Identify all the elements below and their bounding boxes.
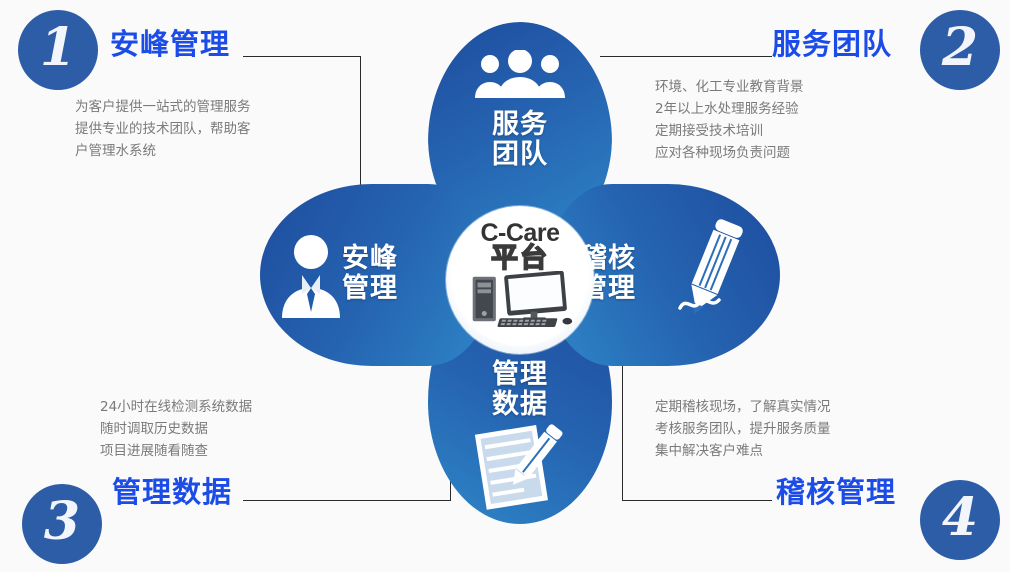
- petal-label-audit-management: 稽核 管理: [580, 244, 698, 304]
- section-body-3-line-1: 24小时在线检测系统数据: [100, 396, 252, 418]
- section-title-4: 稽核管理: [776, 469, 896, 511]
- petal-label-service-team: 服务 团队: [428, 110, 612, 170]
- section-body-1-line-1: 为客户提供一站式的管理服务: [75, 96, 251, 118]
- petal-label-audit-management-line1: 稽核: [580, 244, 698, 274]
- petal-label-anfeng-management-line1: 安峰: [342, 244, 460, 274]
- section-title-3: 管理数据: [112, 469, 232, 511]
- petal-label-anfeng-management: 安峰 管理: [342, 244, 460, 304]
- document-pencil-icon: [472, 418, 568, 510]
- petal-label-management-data: 管理 数据: [428, 360, 612, 420]
- number-badge-1-label: 1: [40, 22, 76, 74]
- section-body-1-line-2: 提供专业的技术团队，帮助客: [75, 118, 251, 140]
- petal-label-audit-management-line2: 管理: [580, 274, 698, 304]
- businessman-icon: [272, 233, 350, 318]
- number-badge-4-label: 4: [942, 492, 978, 544]
- section-body-3-line-2: 随时调取历史数据: [100, 418, 252, 440]
- desktop-computer-icon: [466, 271, 574, 331]
- section-body-1: 为客户提供一站式的管理服务 提供专业的技术团队，帮助客 户管理水系统: [75, 96, 251, 162]
- number-badge-3-label: 3: [44, 496, 80, 548]
- petal-label-management-data-line2: 数据: [428, 390, 612, 420]
- number-badge-2: 2: [920, 10, 1000, 90]
- flower-diagram: 服务 团队 管理 数据 安峰 管理 稽核 管理 C-Care 平台: [250, 8, 790, 533]
- number-badge-4: 4: [920, 480, 1000, 560]
- petal-label-management-data-line1: 管理: [428, 360, 612, 390]
- center-hub[interactable]: C-Care 平台: [454, 214, 586, 346]
- petal-label-anfeng-management-line2: 管理: [342, 274, 460, 304]
- hub-subtitle: 平台: [491, 245, 549, 273]
- section-title-1: 安峰管理: [110, 21, 230, 63]
- number-badge-2-label: 2: [942, 22, 978, 74]
- three-people-icon: [470, 50, 570, 98]
- section-body-1-line-3: 户管理水系统: [75, 140, 251, 162]
- number-badge-1: 1: [18, 10, 98, 90]
- petal-label-service-team-line1: 服务: [428, 110, 612, 140]
- number-badge-3: 3: [22, 484, 102, 564]
- section-body-3-line-3: 项目进展随看随查: [100, 440, 252, 462]
- infographic-canvas: 1 2 3 4 安峰管理 服务团队 管理数据 稽核管理 为客户提供一站式的管理服…: [0, 0, 1010, 572]
- section-title-2: 服务团队: [772, 21, 892, 63]
- petal-label-service-team-line2: 团队: [428, 140, 612, 170]
- section-body-3: 24小时在线检测系统数据 随时调取历史数据 项目进展随看随查: [100, 396, 252, 462]
